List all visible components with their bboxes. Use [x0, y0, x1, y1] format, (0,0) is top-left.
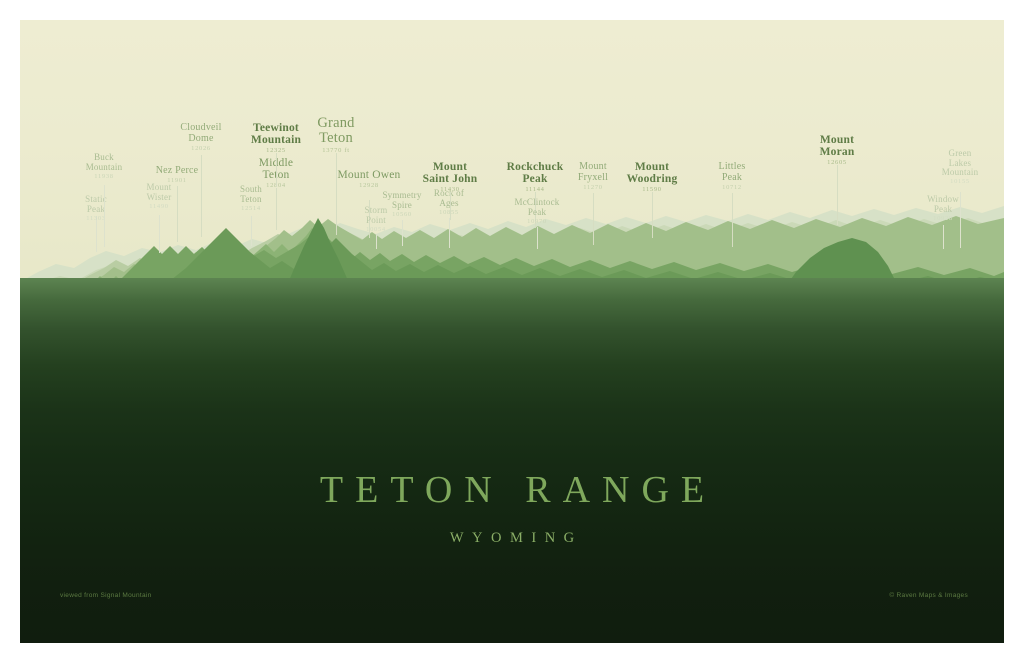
peak-label: SymmetrySpire10560 — [382, 191, 421, 218]
peak-elevation: 11590 — [627, 187, 678, 194]
peak-name: TeewinotMountain — [251, 122, 301, 146]
peak-label: CloudveilDome12026 — [180, 123, 221, 153]
peak-label: MountWoodring11590 — [627, 161, 678, 194]
peak-elevation: 13770 ft — [317, 148, 354, 155]
peak-name: MountWister — [146, 183, 171, 202]
peak-leader-line — [159, 215, 160, 253]
peak-elevation: 10054 — [364, 227, 387, 234]
peak-elevation: 10970 — [515, 219, 560, 226]
peak-name: MountFryxell — [578, 162, 608, 183]
peak-leader-line — [652, 192, 653, 238]
peak-elevation: 12325 — [251, 148, 301, 155]
peak-elevation: 12514 — [240, 206, 262, 213]
peak-label: GrandTeton13770 ft — [317, 116, 354, 155]
viewpoint-note: viewed from Signal Mountain — [60, 592, 152, 599]
peak-elevation: 11270 — [578, 185, 608, 192]
peak-elevation: 10855 — [434, 210, 464, 217]
peak-label: MountFryxell11270 — [578, 162, 608, 192]
peak-leader-line — [593, 193, 594, 245]
peak-name: Nez Perce — [156, 166, 199, 177]
peak-elevation: 11490 — [146, 204, 171, 211]
peak-label: BuckMountain11938 — [86, 153, 123, 180]
peak-label: RockchuckPeak11144 — [507, 161, 564, 194]
peak-label: LittlesPeak10712 — [719, 162, 746, 192]
peak-leader-line — [960, 192, 961, 248]
peak-elevation: 12928 — [337, 183, 400, 190]
peak-elevation: 10560 — [382, 212, 421, 219]
peak-leader-line — [376, 235, 377, 249]
peak-leader-line — [943, 225, 944, 249]
peak-name: MountSaint John — [423, 161, 478, 185]
credit-note: © Raven Maps & Images — [889, 592, 968, 599]
peak-name: WindowPeak — [927, 195, 959, 214]
foreground-valley — [20, 278, 1004, 643]
peak-name: McClintockPeak — [515, 198, 560, 217]
peak-name: MountMoran — [820, 134, 855, 158]
peak-leader-line — [449, 218, 450, 248]
page-title: TETON RANGE — [20, 468, 1004, 512]
peak-elevation: 10155 — [942, 179, 979, 186]
peak-elevation: 11144 — [507, 187, 564, 194]
title-block: TETON RANGE WYOMING — [20, 468, 1004, 547]
peak-label: Nez Perce11901 — [156, 166, 199, 185]
peak-label: MountWister11490 — [146, 183, 171, 210]
peak-elevation: 10712 — [719, 185, 746, 192]
peak-label: WindowPeak10928 — [927, 195, 959, 222]
peak-leader-line — [177, 186, 178, 242]
peak-leader-line — [837, 165, 838, 225]
peak-name: MountWoodring — [627, 161, 678, 185]
peak-leader-line — [732, 193, 733, 247]
peak-leader-line — [276, 188, 277, 230]
peak-label: MountMoran12605 — [820, 134, 855, 167]
peak-name: CloudveilDome — [180, 123, 221, 144]
peak-name: GrandTeton — [317, 116, 354, 147]
peak-leader-line — [251, 216, 252, 246]
peak-name: RockchuckPeak — [507, 161, 564, 185]
peak-label: McClintockPeak10970 — [515, 198, 560, 225]
peak-elevation: 11430 — [423, 187, 478, 194]
peak-elevation: 11938 — [86, 174, 123, 181]
page-subtitle: WYOMING — [20, 530, 1004, 547]
peak-label: TeewinotMountain12325 — [251, 122, 301, 155]
peak-label: Mount Owen12928 — [337, 169, 400, 190]
peak-leader-line — [336, 153, 337, 235]
peak-leader-line — [104, 185, 105, 247]
peak-name: Mount Owen — [337, 169, 400, 181]
poster-canvas: StaticPeak11303BuckMountain11938MountWis… — [20, 20, 1004, 643]
peak-leader-line — [537, 227, 538, 249]
peak-name: LittlesPeak — [719, 162, 746, 183]
peak-label: MountSaint John11430 — [423, 161, 478, 194]
peak-elevation: 10928 — [927, 216, 959, 223]
peak-leader-line — [201, 155, 202, 237]
peak-name: SymmetrySpire — [382, 191, 421, 210]
peak-elevation: 12026 — [180, 146, 221, 153]
peak-leader-line — [276, 153, 277, 187]
peak-leader-line — [402, 220, 403, 246]
peak-name: BuckMountain — [86, 153, 123, 172]
peak-elevation: 12605 — [820, 160, 855, 167]
peak-label: GreenLakesMountain10155 — [942, 149, 979, 186]
peak-leader-line — [450, 192, 451, 220]
peak-elevation: 11901 — [156, 178, 199, 185]
peak-name: GreenLakesMountain — [942, 149, 979, 178]
